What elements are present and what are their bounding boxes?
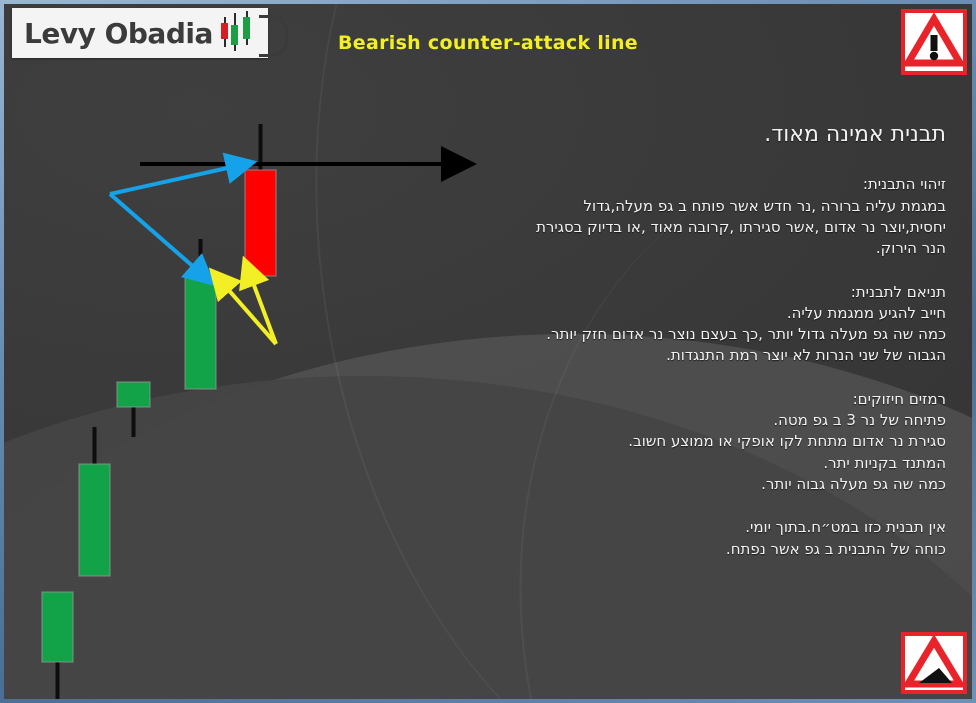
text-line: המתנד בקניות יתר. bbox=[366, 453, 946, 474]
text-section-conditions: תניאם לתבנית:חייב להגיע ממגמת עליה.כמה ש… bbox=[366, 282, 946, 367]
text-line: כמה שה גפ מעלה גדול יותר ,כך בעצם נוצר נ… bbox=[366, 324, 946, 345]
blue-gap-arrow-down bbox=[110, 194, 196, 269]
text-line: הנר הירוק. bbox=[366, 238, 946, 259]
text-section-strengthening-hints: רמזים חיזוקים:פתיחה של נר 3 ב גפ מטה.סגי… bbox=[366, 389, 946, 495]
candle-body bbox=[117, 382, 150, 407]
candle-wick bbox=[199, 239, 203, 276]
text-line: במגמת עליה ברורה ,נר חדש אשר פותח ב גפ מ… bbox=[366, 196, 946, 217]
text-line: סגירת נר אדום מתחת לקו אופקי או ממוצע חש… bbox=[366, 431, 946, 452]
text-line: יחסית,יוצר נר אדום ,אשר סגירתו ,קרובה מא… bbox=[366, 217, 946, 238]
candle-body bbox=[79, 464, 110, 576]
brand-logo: Levy Obadia bbox=[12, 8, 268, 58]
text-section-notes: אין תבנית כזו במט״ח.בתוך יומי.כוחה של הת… bbox=[366, 517, 946, 560]
text-line: כוחה של התבנית ב גפ אשר נפתח. bbox=[366, 539, 946, 560]
warning-exclamation-triangle-icon bbox=[901, 9, 967, 75]
candle-layer bbox=[42, 124, 276, 699]
text-line: כמה שה גפ מעלה גבוה יותר. bbox=[366, 474, 946, 495]
candle-1-bullish bbox=[42, 592, 73, 699]
candle-body bbox=[245, 170, 276, 276]
text-line: זיהוי התבנית: bbox=[366, 174, 946, 195]
yellow-close-arrow-left bbox=[226, 287, 276, 344]
warning-black-triangle-icon bbox=[901, 632, 967, 694]
yellow-close-arrow-up bbox=[252, 280, 276, 344]
logo-d-shape bbox=[259, 15, 288, 57]
text-line: חייב להגיע ממגמת עליה. bbox=[366, 303, 946, 324]
slide-panel: Levy Obadia Bearish counter-attack line bbox=[4, 4, 972, 699]
headline: תבנית אמינה מאוד. bbox=[366, 122, 946, 148]
text-sections: זיהוי התבנית:במגמת עליה ברורה ,נר חדש אש… bbox=[366, 174, 946, 559]
text-section-identification: זיהוי התבנית:במגמת עליה ברורה ,נר חדש אש… bbox=[366, 174, 946, 259]
candle-body bbox=[185, 276, 216, 389]
candle-2-bullish bbox=[79, 427, 110, 576]
candle-5-bearish bbox=[245, 124, 276, 276]
candlestick-logo-mark bbox=[215, 11, 268, 55]
text-line: רמזים חיזוקים: bbox=[366, 389, 946, 410]
text-line: פתיחה של נר 3 ב גפ מטה. bbox=[366, 410, 946, 431]
text-line: תניאם לתבנית: bbox=[366, 282, 946, 303]
text-line: אין תבנית כזו במט״ח.בתוך יומי. bbox=[366, 517, 946, 538]
text-line: הגבוה של שני הנרות לא יוצר רמת התנגדות. bbox=[366, 345, 946, 366]
explanation-text-column: תבנית אמינה מאוד. זיהוי התבנית:במגמת עלי… bbox=[366, 122, 946, 582]
candle-3-bullish bbox=[117, 382, 150, 437]
slide-canvas: Levy Obadia Bearish counter-attack line bbox=[0, 0, 976, 703]
brand-name: Levy Obadia bbox=[24, 17, 213, 50]
blue-gap-arrow-up bbox=[110, 167, 232, 194]
candle-body bbox=[42, 592, 73, 662]
